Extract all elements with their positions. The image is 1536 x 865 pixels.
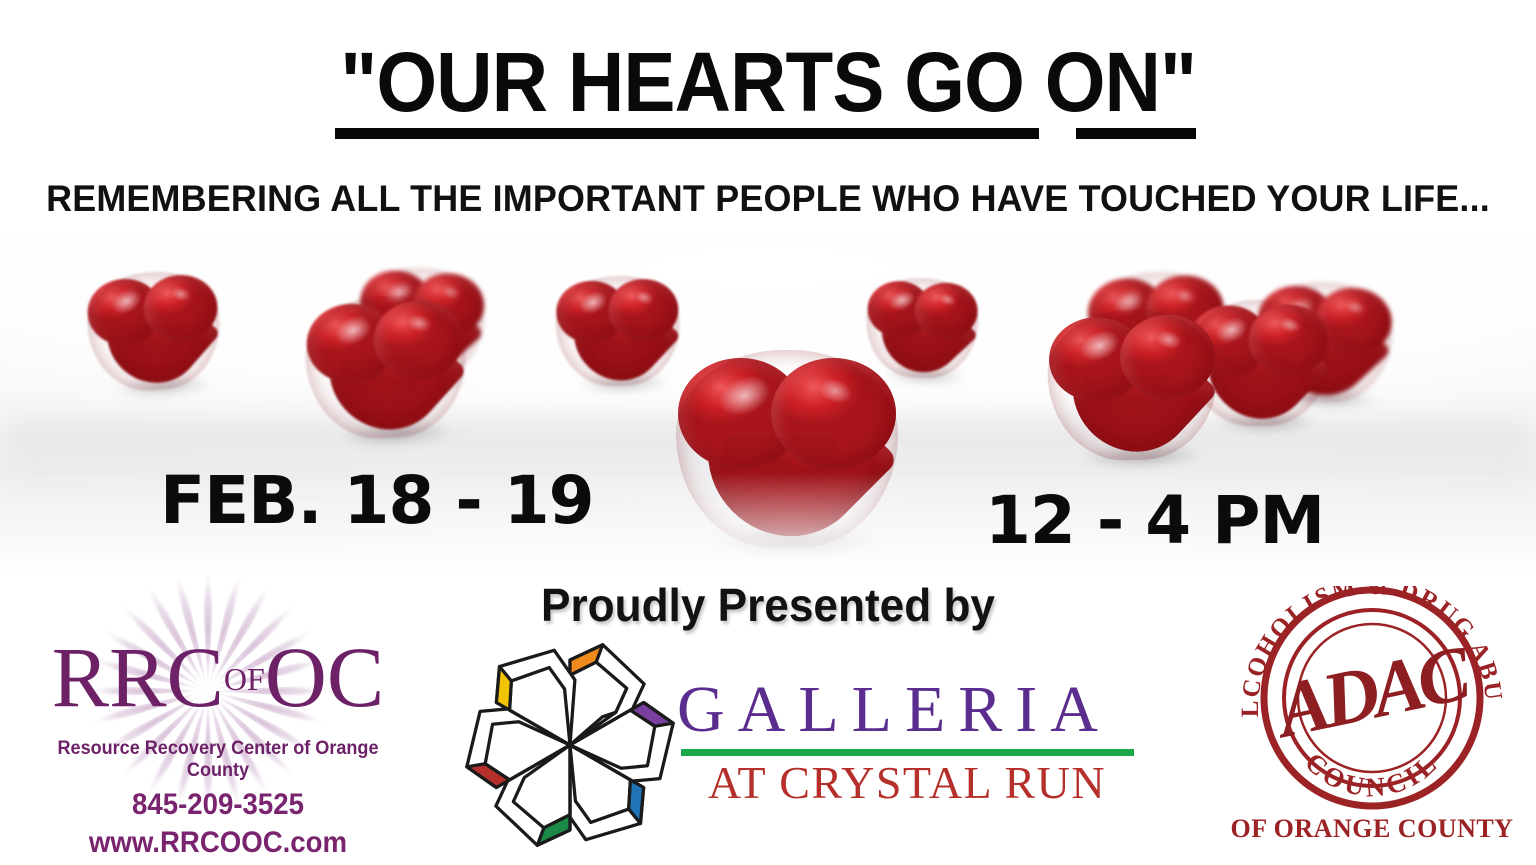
galleria-logo: GALLERIA AT CRYSTAL RUN — [455, 628, 1155, 858]
event-date: FEB. 18 - 19 — [160, 462, 594, 539]
adac-logo: ALCOHOLISM & DRUG ABUSE COUNCIL ADAC OF … — [1222, 586, 1522, 861]
crystal-pinwheel-icon — [460, 636, 680, 854]
event-flyer: "OUR HEARTS GO ON" REMEMBERING ALL THE I… — [0, 0, 1536, 865]
svg-text:ADAC: ADAC — [1265, 628, 1479, 755]
heart-right-4 — [1045, 307, 1220, 463]
heart-body — [864, 276, 979, 380]
heart-left-3 — [302, 292, 469, 442]
rrcooc-mark-of: OF — [224, 661, 265, 697]
title-text: "OUR HEARTS GO ON" — [340, 40, 1196, 124]
heart-shadow — [689, 522, 902, 562]
rrcooc-phone[interactable]: 845-209-3525 — [34, 788, 402, 822]
heart-mid-2 — [864, 276, 979, 380]
heart-body — [676, 350, 898, 548]
galleria-location: AT CRYSTAL RUN — [677, 756, 1137, 809]
galleria-rule — [681, 749, 1134, 756]
heart-body — [302, 292, 469, 442]
title-underline-right — [1076, 128, 1196, 139]
galleria-name: GALLERIA — [677, 672, 1111, 748]
rrcooc-wordmark: RRCOFOC — [18, 634, 418, 720]
page-title: "OUR HEARTS GO ON" — [0, 40, 1536, 124]
heart-center — [676, 350, 898, 548]
event-time: 12 - 4 PM — [985, 482, 1324, 559]
rrcooc-tagline: Resource Recovery Center of Orange Count… — [28, 738, 408, 782]
heart-mid-1 — [554, 274, 682, 388]
adac-seal-icon: ALCOHOLISM & DRUG ABUSE COUNCIL ADAC — [1222, 586, 1522, 826]
rrcooc-mark-left: RRC — [52, 629, 224, 725]
heart-body — [1045, 307, 1220, 463]
heart-left-1 — [84, 268, 224, 395]
rrcooc-website[interactable]: www.RRCOOC.com — [34, 826, 402, 860]
heart-body — [554, 274, 682, 388]
rrcooc-logo: RRCOFOC Resource Recovery Center of Oran… — [18, 556, 418, 856]
adac-subtitle: OF ORANGE COUNTY — [1222, 814, 1522, 844]
subtitle-text: REMEMBERING ALL THE IMPORTANT PEOPLE WHO… — [23, 178, 1513, 220]
rrcooc-mark-right: OC — [265, 629, 384, 725]
heart-crease — [725, 437, 836, 496]
title-underline-left — [335, 128, 1039, 139]
heart-body — [84, 268, 224, 395]
